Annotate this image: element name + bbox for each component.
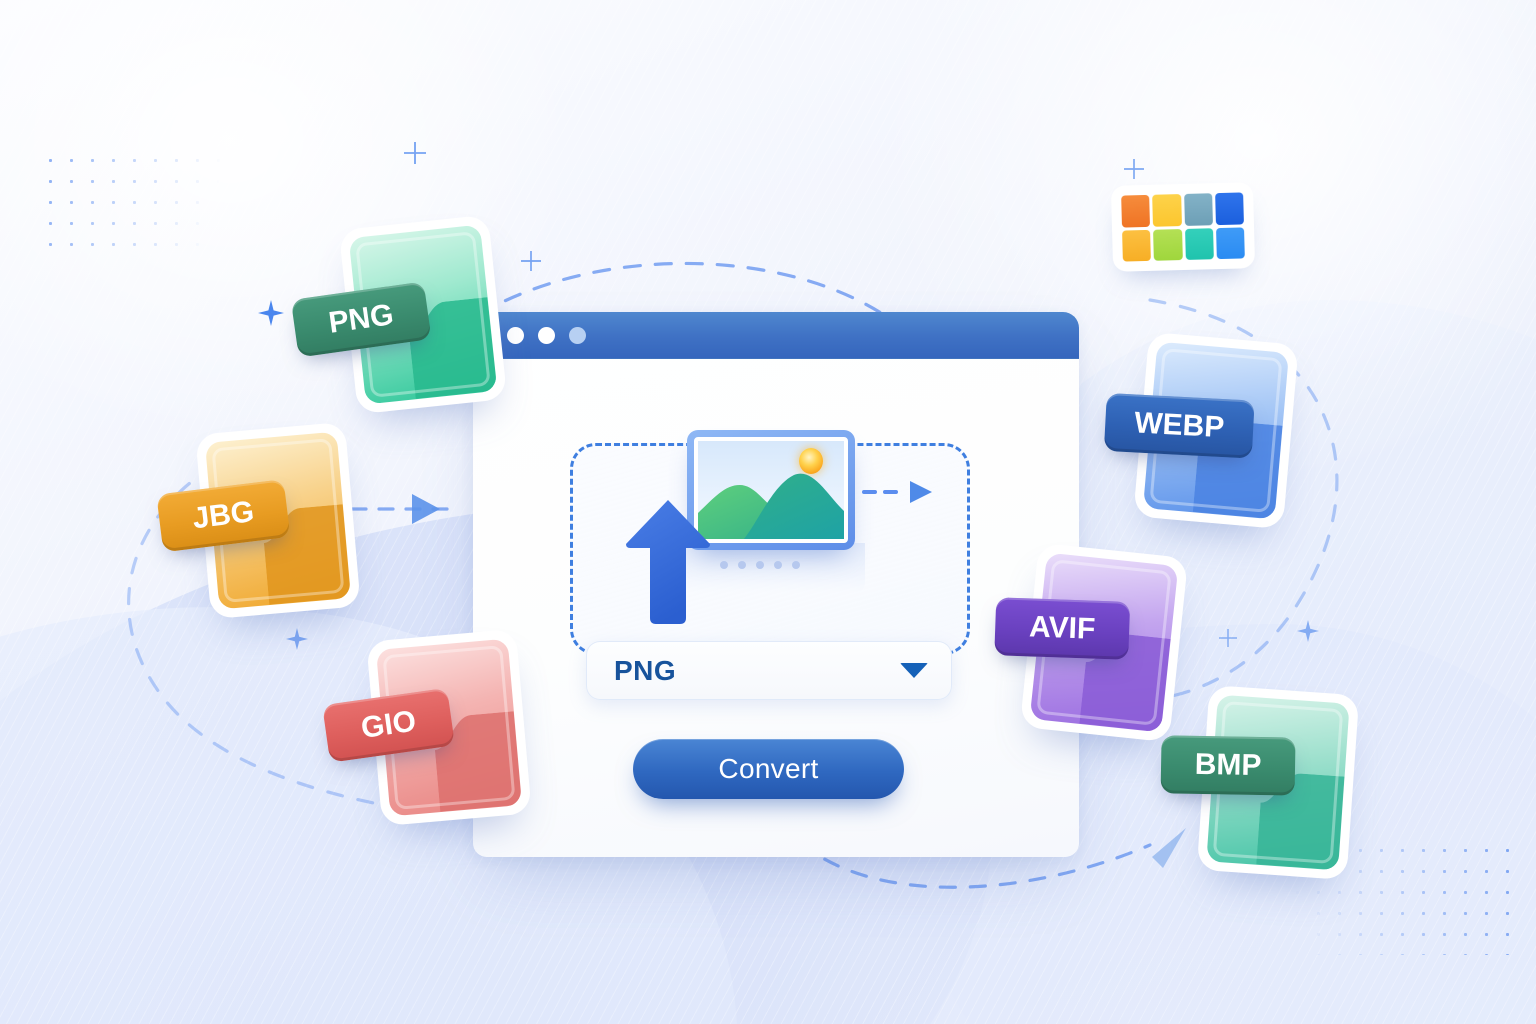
window-dot-minimize[interactable] (538, 327, 555, 344)
file-badge-label: PNG (327, 298, 396, 341)
preview-pager-dots (720, 561, 800, 569)
file-badge-label: BMP (1194, 748, 1261, 783)
plus-icon (1124, 159, 1144, 179)
file-badge-webp: WEBP (1104, 393, 1255, 459)
plus-icon (521, 251, 541, 271)
palette-swatch (1185, 228, 1214, 260)
file-card-avif[interactable]: AVIF (1020, 543, 1189, 743)
convert-button[interactable]: Convert (633, 739, 904, 799)
file-card-bmp[interactable]: BMP (1197, 685, 1360, 880)
sparkle-icon (1297, 620, 1319, 642)
image-thumbnail-icon (687, 430, 855, 550)
palette-swatch (1153, 229, 1182, 261)
pager-dot (756, 561, 764, 569)
palette-swatch (1215, 192, 1244, 224)
color-palette-icon[interactable] (1111, 182, 1255, 272)
dashed-arrow-head-left (412, 494, 440, 524)
pager-dot (774, 561, 782, 569)
dashed-arrow-right-icon (862, 478, 934, 506)
output-format-value: PNG (614, 655, 676, 687)
mountain-icon (698, 441, 844, 539)
file-card-webp[interactable]: WEBP (1133, 332, 1299, 529)
upload-arrow-icon[interactable] (626, 500, 710, 625)
file-badge-label: GIO (359, 705, 418, 746)
illustration-stage: PNG Convert PNG JBG (0, 0, 1536, 1024)
output-format-select[interactable]: PNG (586, 641, 952, 700)
file-badge-avif: AVIF (994, 597, 1130, 660)
sparkle-icon (286, 628, 308, 650)
palette-swatch (1122, 229, 1151, 261)
window-dot-close[interactable] (507, 327, 524, 344)
chevron-down-icon[interactable] (900, 663, 928, 678)
palette-swatch (1216, 227, 1245, 259)
file-card-jbg[interactable]: JBG (195, 422, 361, 619)
file-card-png[interactable]: PNG (339, 215, 508, 415)
image-thumbnail-inner (694, 437, 848, 543)
dashed-arc-bottom-arrow-head (1152, 828, 1186, 868)
file-badge-label: AVIF (1029, 610, 1096, 646)
pager-dot (720, 561, 728, 569)
pager-dot (792, 561, 800, 569)
file-card-gio[interactable]: GIO (366, 629, 532, 826)
plus-icon (1219, 629, 1237, 647)
convert-button-label: Convert (718, 753, 818, 785)
palette-swatch (1121, 195, 1150, 227)
palette-swatch (1184, 193, 1213, 225)
window-titlebar (473, 312, 1079, 359)
plus-icon (404, 142, 426, 164)
window-dot-maximize[interactable] (569, 327, 586, 344)
sparkle-icon (258, 300, 284, 326)
file-badge-label: JBG (191, 495, 256, 536)
pager-dot (738, 561, 746, 569)
image-preview[interactable] (687, 430, 855, 550)
file-badge-label: WEBP (1133, 406, 1225, 445)
palette-swatch (1152, 194, 1181, 226)
file-badge-bmp: BMP (1161, 735, 1296, 795)
